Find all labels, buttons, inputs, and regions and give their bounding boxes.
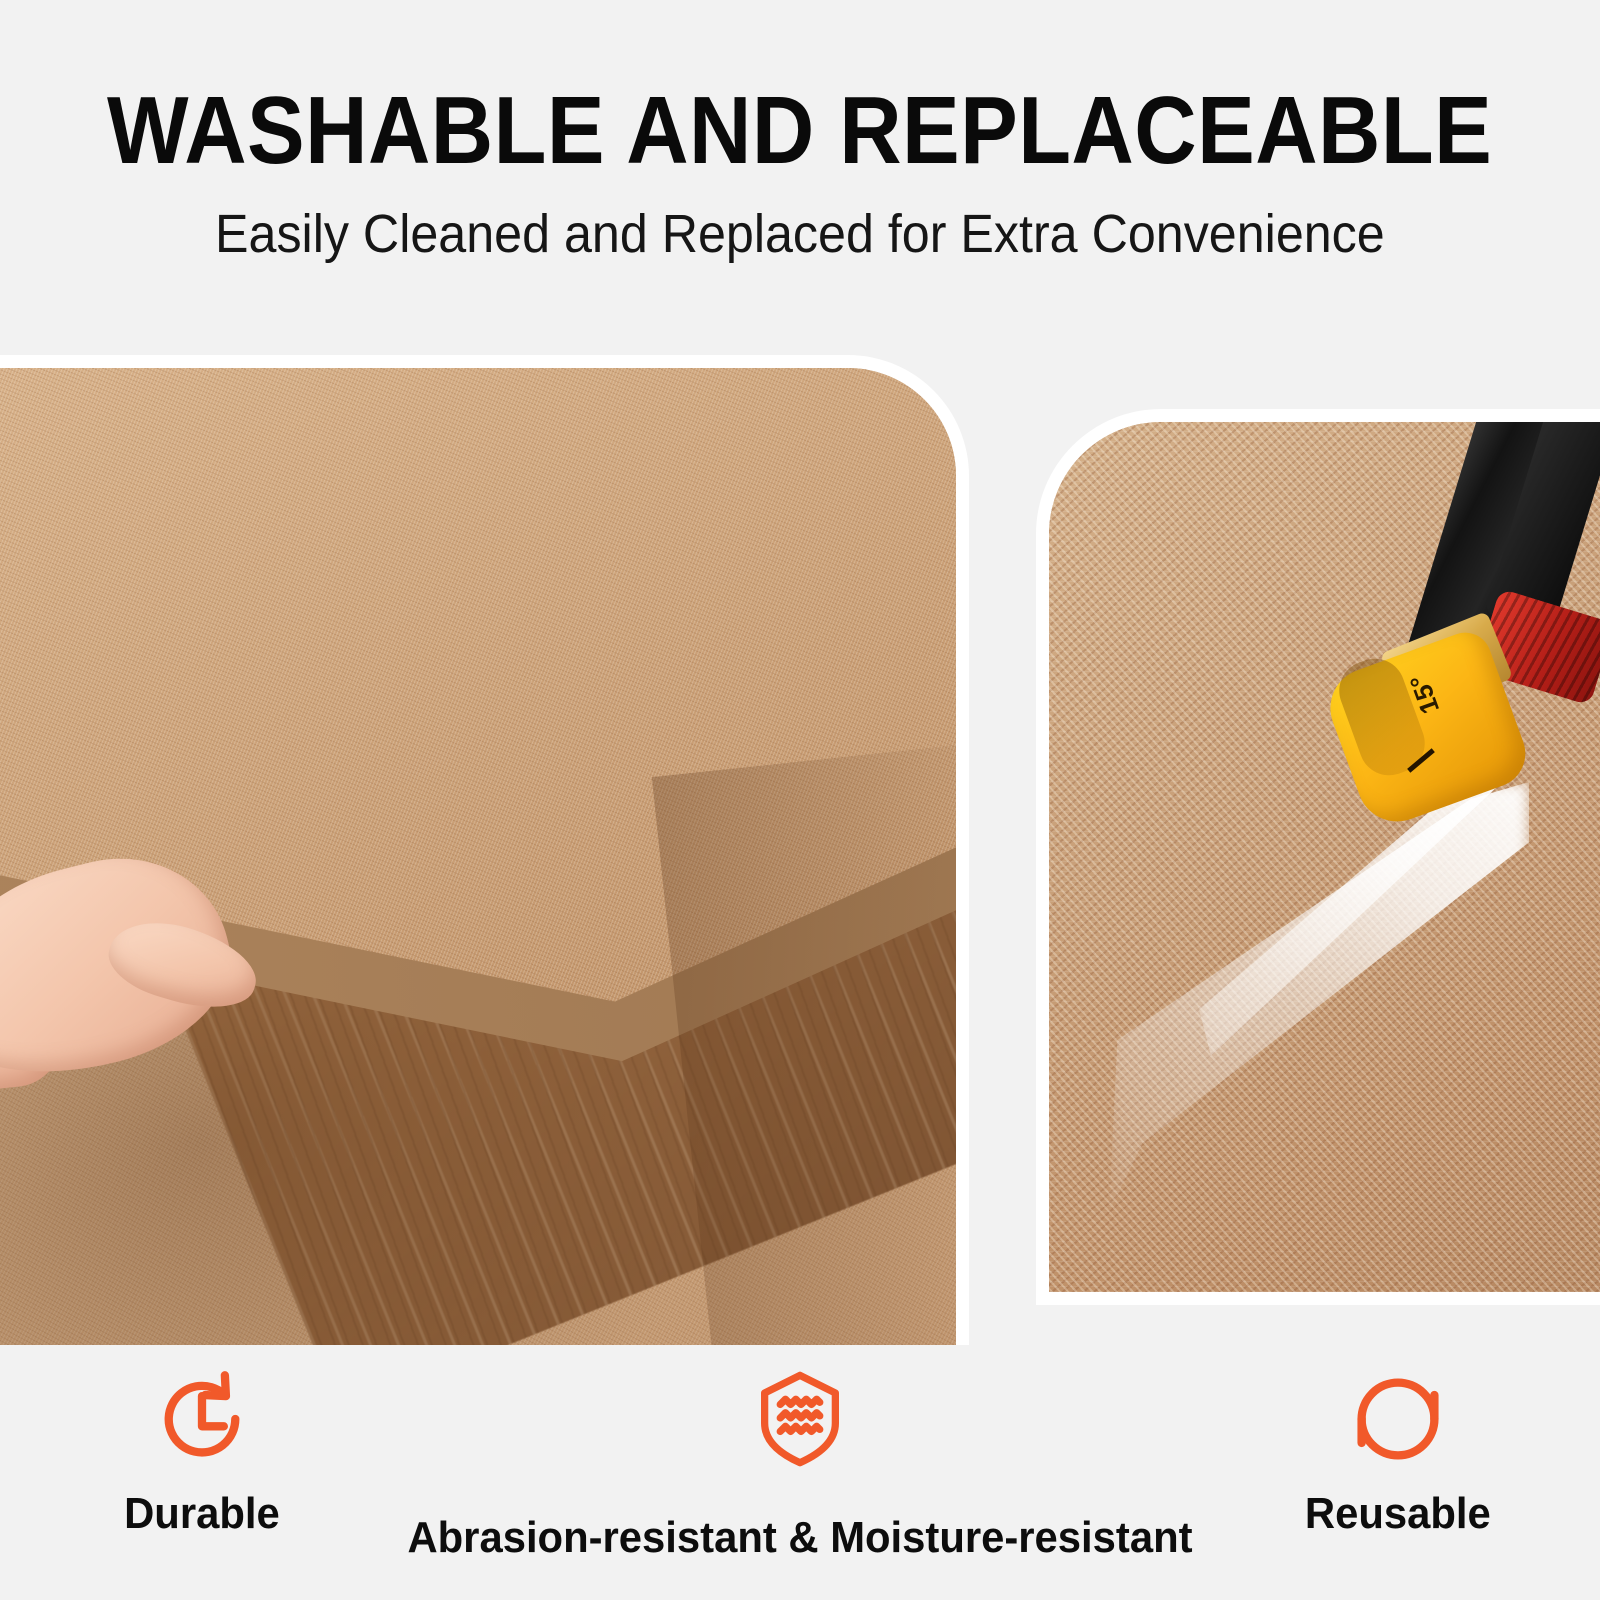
feature-bar: Durable Reusable Abrasion-resistant & Mo… <box>0 1345 1600 1600</box>
removable-cover-photo <box>0 368 956 1380</box>
feature-resistance[interactable] <box>690 1367 910 1471</box>
photo-stage: 15° <box>0 330 1600 1345</box>
feature-resistance-label: Abrasion-resistant & Moisture-resistant <box>40 1513 1560 1563</box>
clock-arrow-icon <box>150 1367 254 1471</box>
header-banner: WASHABLE AND REPLACEABLE Easily Cleaned … <box>0 0 1600 330</box>
page-subtitle: Easily Cleaned and Replaced for Extra Co… <box>215 205 1385 264</box>
shield-waves-icon <box>748 1367 852 1471</box>
pressure-washing-photo: 15° <box>1049 422 1600 1292</box>
page-title: WASHABLE AND REPLACEABLE <box>107 83 1492 179</box>
refresh-cycle-icon <box>1346 1367 1450 1471</box>
